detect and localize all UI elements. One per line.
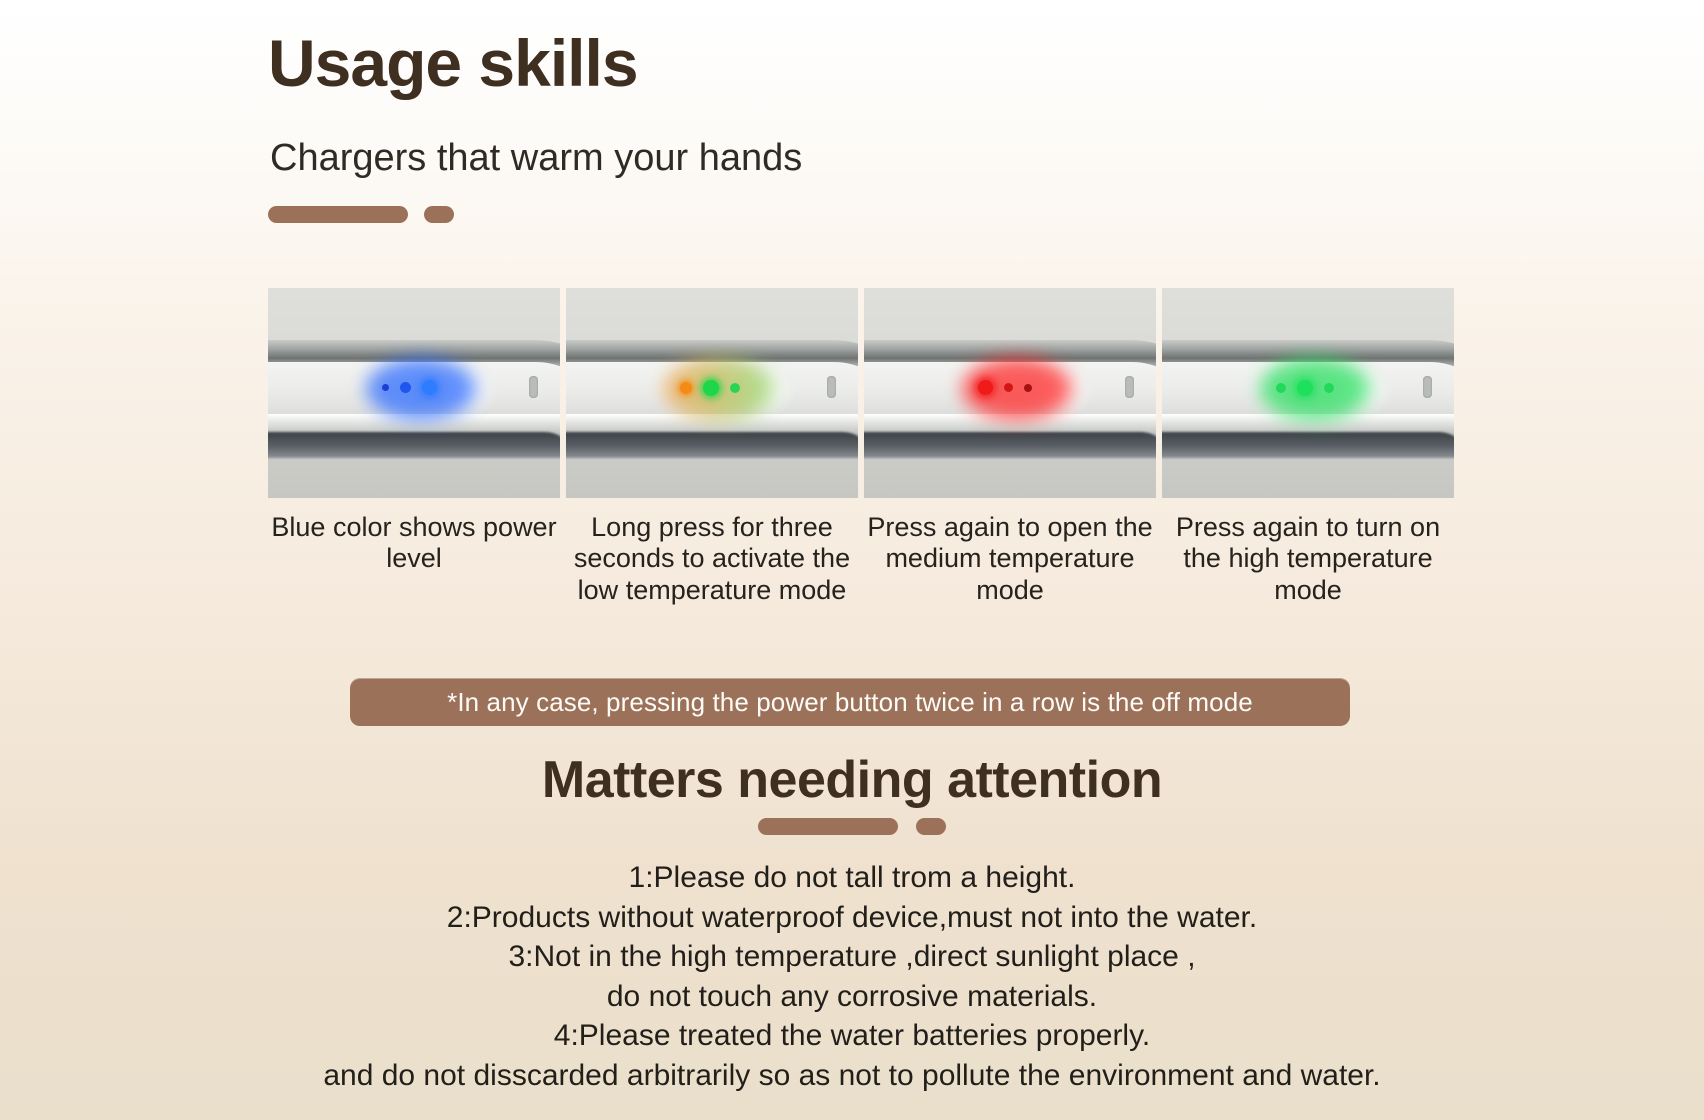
led-indicator [1276,383,1286,393]
device-port-icon [1125,376,1134,398]
led-indicator-group-1 [382,380,437,395]
off-mode-note-text: *In any case, pressing the power button … [447,687,1253,718]
device-port-icon [827,376,836,398]
page-title: Usage skills [268,30,638,96]
caption-line: Long press for [591,512,764,542]
device-shadow [268,432,560,458]
caption-line: Blue color shows [271,512,475,542]
led-indicator [422,380,437,395]
product-photo-strip [268,288,1454,498]
page-subtitle: Chargers that warm your hands [270,137,802,180]
led-indicator [382,384,389,391]
product-photo-panel-2 [566,288,858,498]
power-bank-illustration-2 [566,340,858,450]
divider-dash-short [916,818,946,835]
header-divider-dashes [268,206,454,223]
led-indicator [730,383,740,393]
attention-notes-list: 1:Please do not tall trom a height. 2:Pr… [0,858,1704,1096]
led-indicator [703,380,719,396]
attention-section-title: Matters needing attention [0,750,1704,810]
caption-line: temperature mode [1274,543,1432,604]
led-indicator-group-4 [1276,380,1334,396]
led-indicator [1024,384,1032,392]
attention-divider-dashes [0,818,1704,835]
led-indicator [1324,383,1334,393]
attention-note-line: 4:Please treated the water batteries pro… [0,1016,1704,1056]
device-shadow [1162,432,1454,458]
usage-skills-infographic: Usage skills Chargers that warm your han… [0,0,1704,1120]
divider-dash-short [424,206,454,223]
caption-line: Press again to [1176,512,1349,542]
led-indicator [1297,380,1313,396]
led-indicator [680,382,692,394]
device-port-icon [1423,376,1432,398]
power-bank-illustration-3 [864,340,1156,450]
device-shadow [566,432,858,458]
power-bank-illustration-1 [268,340,560,450]
led-indicator-group-2 [680,380,740,396]
caption-panel-1: Blue color shows power level [268,512,560,606]
attention-note-line: 1:Please do not tall trom a height. [0,858,1704,898]
device-shadow [864,432,1156,458]
caption-panel-4: Press again to turn on the high temperat… [1162,512,1454,606]
product-photo-panel-1 [268,288,560,498]
attention-note-line: do not touch any corrosive materials. [0,977,1704,1017]
caption-line: Press again to [867,512,1040,542]
product-photo-panel-4 [1162,288,1454,498]
attention-note-line: and do not disscarded arbitrarily so as … [0,1056,1704,1096]
off-mode-note-banner: *In any case, pressing the power button … [350,678,1350,726]
caption-line: temperature mode [626,575,847,605]
power-bank-illustration-4 [1162,340,1454,450]
led-indicator [1004,383,1013,392]
attention-note-line: 2:Products without waterproof device,mus… [0,898,1704,938]
divider-dash-long [268,206,408,223]
caption-line: temperature mode [976,543,1134,604]
led-indicator [978,380,993,395]
caption-panel-2: Long press for three seconds to activate… [566,512,858,606]
attention-note-line: 3:Not in the high temperature ,direct su… [0,937,1704,977]
led-indicator [400,382,411,393]
photo-captions: Blue color shows power level Long press … [268,512,1454,606]
divider-dash-long [758,818,898,835]
product-photo-panel-3 [864,288,1156,498]
caption-panel-3: Press again to open the medium temperatu… [864,512,1156,606]
led-indicator-group-3 [978,380,1032,395]
device-port-icon [529,376,538,398]
